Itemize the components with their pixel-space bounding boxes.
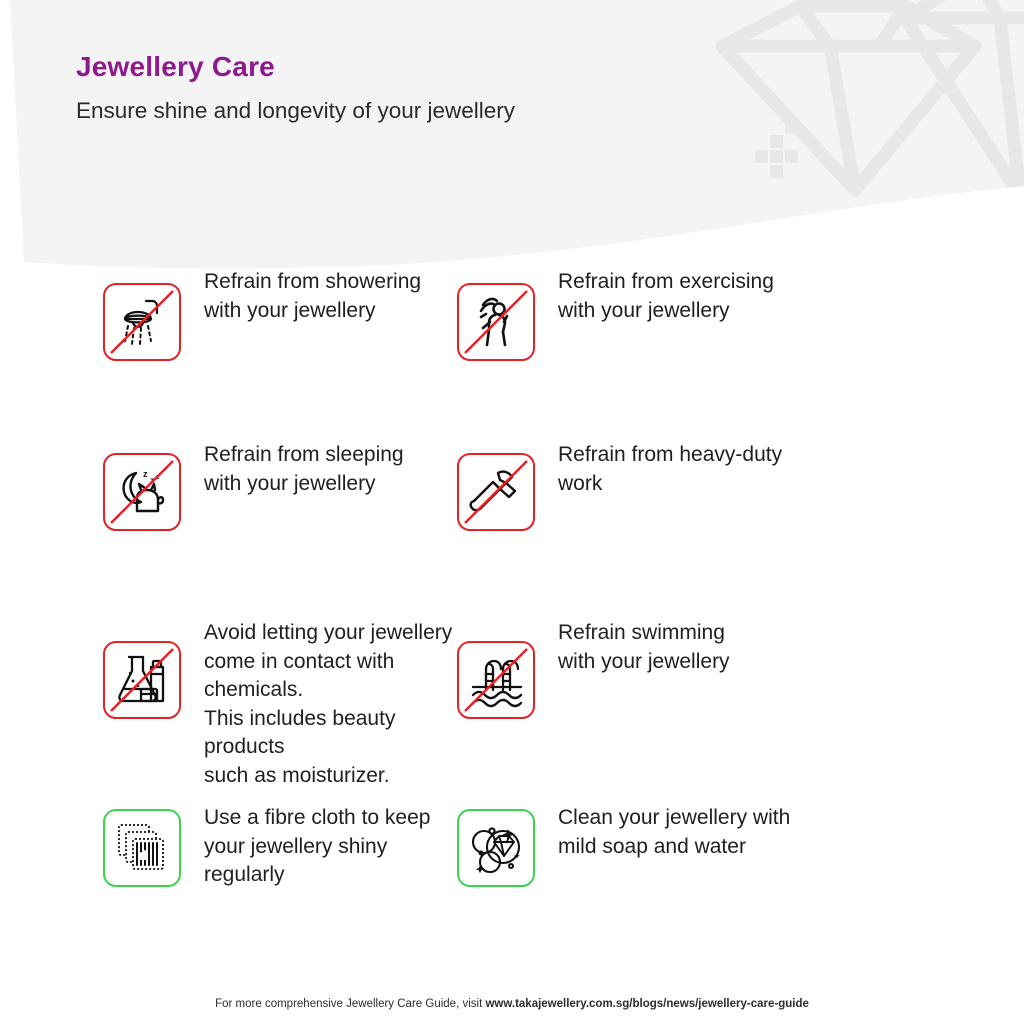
care-item-label: Clean your jewellery with mild soap and … (535, 804, 790, 861)
care-item-label: Avoid letting your jewellery come in con… (181, 619, 457, 790)
swimming-pool-icon (457, 641, 535, 719)
footer-lead-text: For more comprehensive Jewellery Care Gu… (215, 998, 485, 1010)
prohibition-slash (111, 461, 173, 523)
sleeping-moon-cat-icon: z z z (103, 453, 181, 531)
care-item-no-showering: Refrain from showering with your jewelle… (0, 268, 457, 441)
shower-icon (103, 283, 181, 361)
care-item-label: Refrain swimming with your jewellery (535, 619, 730, 676)
care-item-label: Refrain from heavy-duty work (535, 441, 782, 498)
care-item-label: Refrain from sleeping with your jeweller… (181, 441, 404, 498)
header-band (0, 0, 1024, 290)
care-row: Avoid letting your jewellery come in con… (0, 619, 1024, 804)
care-row: Use a fibre cloth to keep your jewellery… (0, 804, 1024, 924)
care-items-grid: Refrain from showering with your jewelle… (0, 268, 1024, 924)
prohibition-slash (465, 461, 527, 523)
gem-bubbles-icon (457, 809, 535, 887)
care-item-label: Refrain from exercising with your jewell… (535, 268, 774, 325)
hammer-icon (457, 453, 535, 531)
exercising-person-icon (457, 283, 535, 361)
prohibition-slash (465, 649, 527, 711)
fibre-cloth-stack-icon (103, 809, 181, 887)
page-title: Jewellery Care (76, 52, 515, 83)
care-item-no-heavy-duty-work: Refrain from heavy-duty work (457, 441, 1024, 619)
page-subtitle: Ensure shine and longevity of your jewel… (76, 97, 515, 124)
chemical-flask-icon (103, 641, 181, 719)
care-item-clean-with-soap: Clean your jewellery with mild soap and … (457, 804, 1024, 924)
care-item-no-sleeping: z z z Refrain from sleeping with your je… (0, 441, 457, 619)
care-row: z z z Refrain from sleeping with your je… (0, 441, 1024, 619)
svg-text:z: z (143, 469, 148, 479)
care-item-no-exercising: Refrain from exercising with your jewell… (457, 268, 1024, 441)
prohibition-slash (111, 291, 173, 353)
footer-url[interactable]: www.takajewellery.com.sg/blogs/news/jewe… (485, 998, 808, 1010)
footer: For more comprehensive Jewellery Care Gu… (0, 998, 1024, 1010)
care-row: Refrain from showering with your jewelle… (0, 268, 1024, 441)
care-item-no-chemicals: Avoid letting your jewellery come in con… (0, 619, 457, 804)
care-item-no-swimming: Refrain swimming with your jewellery (457, 619, 1024, 804)
care-item-label: Refrain from showering with your jewelle… (181, 268, 421, 325)
care-item-use-fibre-cloth: Use a fibre cloth to keep your jewellery… (0, 804, 457, 924)
care-item-label: Use a fibre cloth to keep your jewellery… (181, 804, 430, 890)
